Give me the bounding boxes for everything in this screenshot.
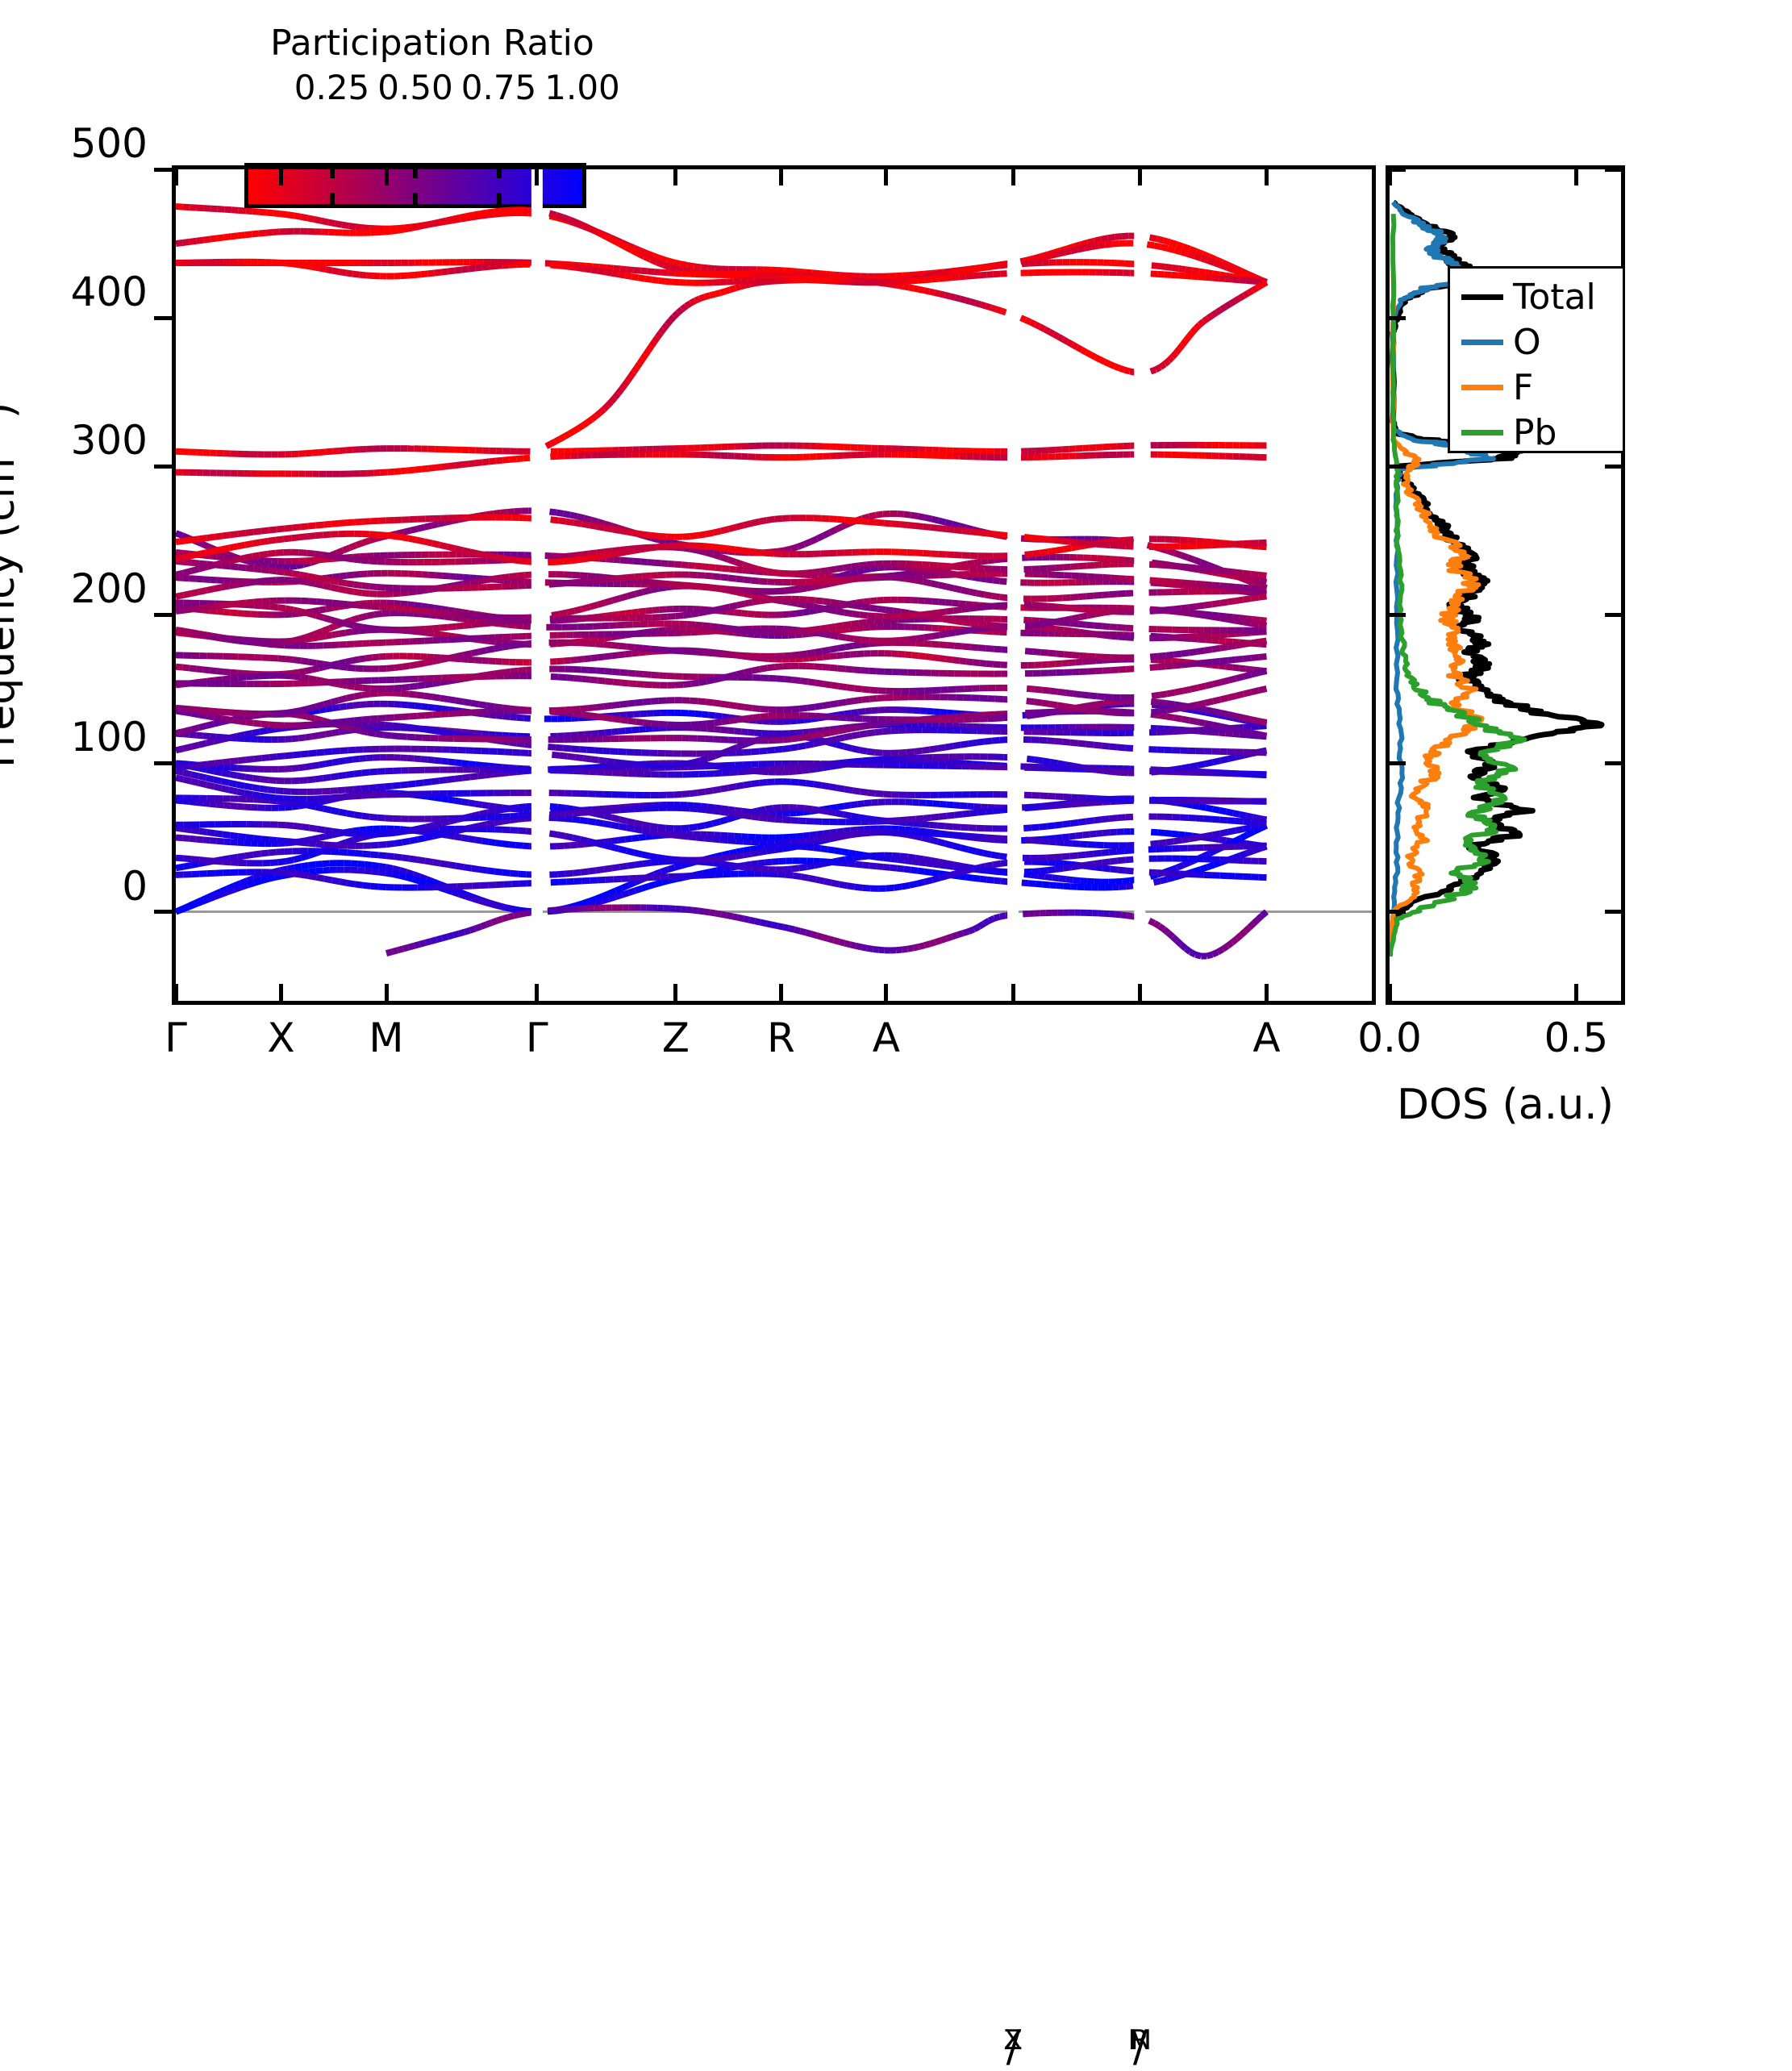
colorbar-tick-label: 0.50 [377, 68, 453, 107]
x-tick-mark [779, 984, 783, 1001]
dos-x-tick-mark [1388, 984, 1392, 1001]
legend-item[interactable]: F [1450, 364, 1623, 410]
dos-y-tick-mark [1390, 613, 1406, 617]
dos-y-tick-mark-right [1605, 168, 1621, 172]
dos-axis-title: DOS (a.u.) [1386, 1081, 1625, 1129]
x-tick-mark-top [279, 169, 283, 185]
dos-y-tick-mark-right [1605, 465, 1621, 469]
dos-y-tick-mark-right [1605, 613, 1621, 617]
dos-y-tick-mark-right [1605, 761, 1621, 765]
dos-x-tick-mark [1574, 984, 1578, 1001]
band-curve [176, 613, 1266, 643]
y-tick-label: 100 [0, 714, 148, 760]
x-tick-mark-top [174, 169, 178, 185]
colorbar-tick-label: 0.25 [294, 68, 370, 107]
colorbar-tick-label: 0.75 [461, 68, 537, 107]
dos-x-tick-label: 0.0 [1357, 1015, 1422, 1061]
dos-y-tick-mark-right [1605, 910, 1621, 914]
x-tick-label: Γ [165, 1015, 187, 1061]
x-tick-label: Z [662, 1015, 690, 1061]
x-tick-mark [385, 984, 389, 1001]
x-tick-mark-top [1265, 169, 1269, 185]
figure-root: Participation Ratio 0.250.500.751.00 Fre… [0, 0, 1792, 1173]
dos-x-tick-mark-top [1388, 169, 1392, 185]
y-tick-mark [154, 465, 172, 469]
x-tick-mark [1138, 984, 1142, 1001]
legend-color-swatch [1461, 385, 1503, 390]
dos-y-tick-mark [1390, 910, 1406, 914]
y-tick-label: 400 [0, 269, 148, 315]
dos-y-tick-mark [1390, 316, 1406, 320]
dos-y-tick-mark [1390, 465, 1406, 469]
legend-label: Total [1513, 275, 1596, 320]
dos-legend[interactable]: TotalOFPb [1448, 266, 1625, 453]
x-tick-mark [673, 984, 677, 1001]
legend-label: F [1513, 365, 1533, 410]
x-tick-mark [884, 984, 888, 1001]
x-tick-label: Γ [526, 1015, 548, 1061]
legend-color-swatch [1461, 340, 1503, 345]
legend-item[interactable]: Total [1450, 273, 1623, 320]
band-curve [176, 454, 1266, 473]
x-tick-label: X [267, 1015, 294, 1061]
y-tick-mark [154, 613, 172, 617]
x-tick-mark [1265, 984, 1269, 1001]
y-tick-mark [154, 761, 172, 765]
band-structure-axes[interactable] [172, 165, 1376, 1005]
band-curve [546, 280, 1266, 447]
y-tick-mark [154, 316, 172, 320]
x-tick-mark [279, 984, 283, 1001]
x-tick-mark-top [1011, 169, 1015, 185]
x-tick-mark-top [673, 169, 677, 185]
y-tick-label: 500 [0, 120, 148, 167]
dos-x-tick-mark-top [1574, 169, 1578, 185]
x-tick-label: A [1252, 1015, 1280, 1061]
legend-label: Pb [1513, 410, 1557, 456]
x-tick-mark-top [1138, 169, 1142, 185]
x-tick-label: R [767, 1015, 795, 1061]
y-tick-mark [154, 910, 172, 914]
x-tick-mark [174, 984, 178, 1001]
dos-y-tick-mark [1390, 761, 1406, 765]
x-tick-mark-top [779, 169, 783, 185]
x-tick-label: A [873, 1015, 900, 1061]
y-tick-label: 0 [0, 863, 148, 910]
y-tick-mark [154, 168, 172, 172]
x-tick-mark-top [385, 169, 389, 185]
x-tick-mark [1011, 984, 1015, 1001]
x-tick-label: M [369, 1015, 403, 1061]
y-tick-label: 300 [0, 417, 148, 464]
legend-item[interactable]: O [1450, 319, 1623, 365]
dos-x-tick-label: 0.5 [1544, 1015, 1609, 1061]
legend-color-swatch [1461, 430, 1503, 435]
colorbar-tick-labels: 0.250.500.751.00 [174, 68, 674, 108]
x-tick-mark [535, 984, 539, 1001]
legend-item[interactable]: Pb [1450, 409, 1623, 456]
colorbar-title: Participation Ratio [247, 23, 618, 64]
band-structure-plot [176, 169, 1372, 1001]
legend-label: O [1513, 320, 1541, 365]
x-tick-mark-top [884, 169, 888, 185]
dos-y-tick-mark [1390, 168, 1406, 172]
colorbar-tick-label: 1.00 [544, 68, 620, 107]
y-tick-label: 200 [0, 565, 148, 612]
legend-color-swatch [1461, 294, 1503, 300]
x-tick-mark-top [535, 169, 539, 185]
